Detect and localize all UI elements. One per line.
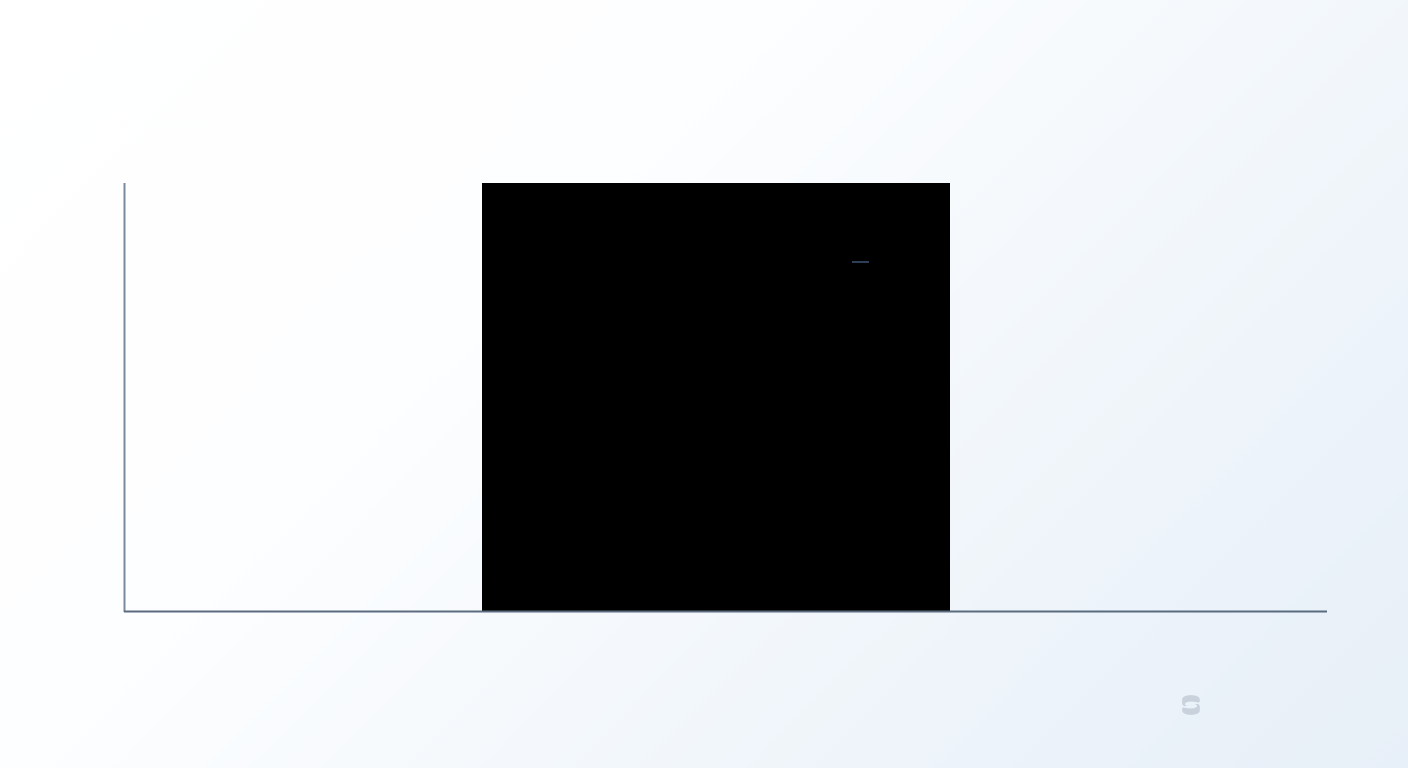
plot-area	[0, 0, 1408, 768]
verification-window-band	[482, 183, 950, 612]
series-annotation-padrao	[852, 261, 878, 263]
annotation-dash-icon	[852, 261, 869, 263]
hostdime-layers-icon	[1178, 692, 1204, 718]
chart-container	[0, 0, 1408, 768]
brand-logo	[1178, 692, 1213, 718]
